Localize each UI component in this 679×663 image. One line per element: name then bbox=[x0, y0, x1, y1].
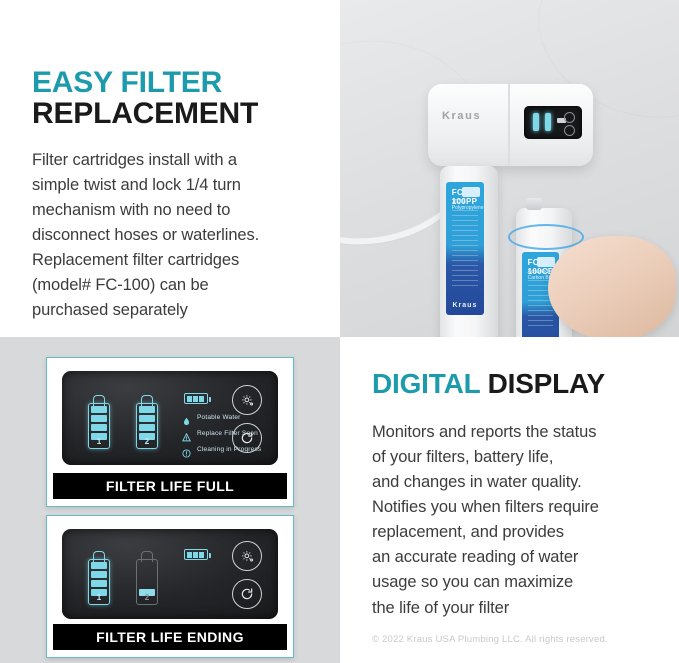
caption-filter-life-ending: FILTER LIFE ENDING bbox=[53, 624, 287, 650]
battery-icon bbox=[184, 393, 208, 404]
warning-triangle-icon bbox=[182, 429, 191, 438]
gauge-2-number-ending: 2 bbox=[137, 593, 157, 602]
filter-gauge-2-ending: 2 bbox=[136, 551, 158, 605]
filter-head-unit: Kraus bbox=[428, 84, 593, 166]
product-digital-display bbox=[524, 106, 582, 139]
display-screen-ending: 1 2 bbox=[62, 529, 278, 619]
display-card-filter-life-ending: 1 2 bbox=[46, 515, 294, 658]
copyright-text: © 2022 Kraus USA Plumbing LLC. All right… bbox=[372, 634, 608, 645]
filter-cartridge-1: FC-100PP 100% Polypropylene Kraus bbox=[440, 166, 498, 337]
cartridge-1-fineprint bbox=[452, 210, 478, 289]
page-title-digital-display: DIGITAL DISPLAY bbox=[372, 370, 605, 399]
page-title-easy-filter: EASY FILTER REPLACEMENT bbox=[32, 68, 258, 130]
body-text-digital-display: Monitors and reports the status of your … bbox=[372, 420, 660, 621]
heading-dark-line: REPLACEMENT bbox=[32, 99, 258, 130]
panel-product-photo: Kraus FC-100PP 100% Polypropylene Kraus bbox=[340, 0, 679, 337]
gauge-2-tube-ending: 2 bbox=[136, 559, 158, 605]
body-text-easy-filter: Filter cartridges install with a simple … bbox=[32, 148, 314, 324]
battery-icon-ending bbox=[184, 549, 208, 560]
infographic-sheet: EASY FILTER REPLACEMENT Filter cartridge… bbox=[0, 0, 679, 663]
mini-gauge-2 bbox=[545, 113, 551, 131]
panel-display-states: 1 2 bbox=[0, 337, 340, 663]
caption-filter-life-full-text: FILTER LIFE FULL bbox=[106, 478, 234, 494]
cartridge-1-brand: Kraus bbox=[446, 302, 484, 309]
filter-gauge-1-ending: 1 bbox=[88, 551, 110, 605]
heading-accent-line: EASY FILTER bbox=[32, 68, 258, 99]
product-photo-image: Kraus FC-100PP 100% Polypropylene Kraus bbox=[340, 0, 679, 337]
gauge-2-tube: 2 bbox=[136, 403, 158, 449]
gauge-1-number-ending: 1 bbox=[89, 593, 109, 602]
panel-easy-filter-replacement: EASY FILTER REPLACEMENT Filter cartridge… bbox=[0, 0, 340, 337]
mini-gauge-1 bbox=[533, 113, 539, 131]
gauge-1-tube-ending: 1 bbox=[88, 559, 110, 605]
hand-illustration bbox=[548, 236, 676, 337]
filter-gauge-2: 2 bbox=[136, 395, 158, 449]
mini-gear-icon bbox=[564, 112, 575, 123]
water-drop-icon bbox=[182, 413, 191, 422]
gauge-2-number: 2 bbox=[137, 437, 157, 446]
cartridge-2-badge bbox=[537, 257, 555, 267]
gauge-1-number: 1 bbox=[89, 437, 109, 446]
gear-button[interactable] bbox=[232, 385, 262, 415]
brand-logo: Kraus bbox=[442, 110, 481, 122]
mini-reset-icon bbox=[564, 125, 575, 136]
display-screen-full: 1 2 bbox=[62, 371, 278, 465]
filter-gauge-1: 1 bbox=[88, 395, 110, 449]
status-potable-water-label: Potable Water bbox=[197, 414, 241, 421]
info-circle-icon bbox=[182, 445, 191, 454]
caption-filter-life-ending-text: FILTER LIFE ENDING bbox=[96, 629, 244, 645]
cartridge-1-label: FC-100PP 100% Polypropylene Kraus bbox=[446, 182, 484, 315]
heading-dark-word: DISPLAY bbox=[480, 368, 605, 399]
display-card-filter-life-full: 1 2 bbox=[46, 357, 294, 507]
reset-button-ending[interactable] bbox=[232, 579, 262, 609]
gauge-1-tube: 1 bbox=[88, 403, 110, 449]
gear-button-ending[interactable] bbox=[232, 541, 262, 571]
heading-accent-word: DIGITAL bbox=[372, 368, 480, 399]
cartridge-1-badge bbox=[462, 187, 480, 197]
cartridge-2-cap bbox=[526, 198, 542, 210]
reset-button[interactable] bbox=[232, 423, 262, 453]
caption-filter-life-full: FILTER LIFE FULL bbox=[53, 473, 287, 499]
housing-seam bbox=[508, 84, 510, 166]
status-potable-water: Potable Water bbox=[182, 413, 241, 422]
